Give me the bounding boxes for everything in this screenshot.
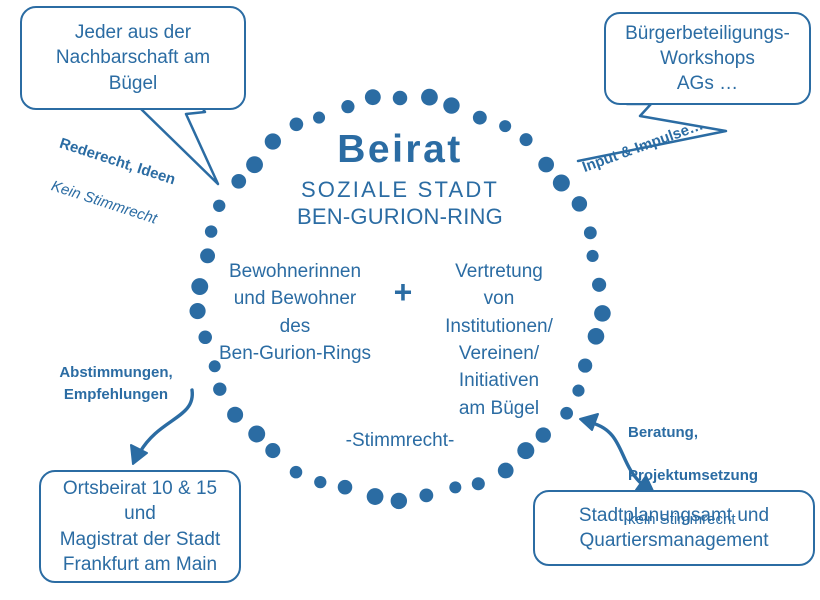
members-institutions: Vertretung von Institutionen/ Vereinen/ … (415, 258, 583, 422)
page-title: Beirat (250, 128, 550, 172)
subtitle-ben-gurion-ring: BEN-GURION-RING (250, 204, 550, 230)
label-beratung-line3: kein Stimmrecht (628, 509, 788, 531)
bubble-ortsbeirat[interactable]: Ortsbeirat 10 & 15 und Magistrat der Sta… (39, 470, 241, 583)
bubble-neighbourhood[interactable]: Jeder aus der Nachbarschaft am Bügel (20, 6, 246, 110)
label-beratung-line2: Projektumsetzung (628, 465, 788, 487)
label-abstimmungen: Abstimmungen, Empfehlungen (46, 362, 186, 406)
bubble-participation[interactable]: Bürgerbeteiligungs- Workshops AGs … (604, 12, 811, 105)
voting-right-note: -Stimmrecht- (300, 430, 500, 452)
bubble-participation-label: Bürgerbeteiligungs- Workshops AGs … (625, 21, 790, 96)
diagram-canvas: Beirat SOZIALE STADT BEN-GURION-RING Bew… (0, 0, 820, 600)
subtitle-soziale-stadt: SOZIALE STADT (250, 177, 550, 203)
members-residents: Bewohnerinnen und Bewohner des Ben-Gurio… (203, 258, 387, 367)
bubble-ortsbeirat-label: Ortsbeirat 10 & 15 und Magistrat der Sta… (60, 476, 221, 576)
label-beratung: Beratung, Projektumsetzung kein Stimmrec… (628, 400, 788, 552)
bubble-neighbourhood-label: Jeder aus der Nachbarschaft am Bügel (56, 20, 210, 95)
label-beratung-line1: Beratung, (628, 422, 788, 444)
